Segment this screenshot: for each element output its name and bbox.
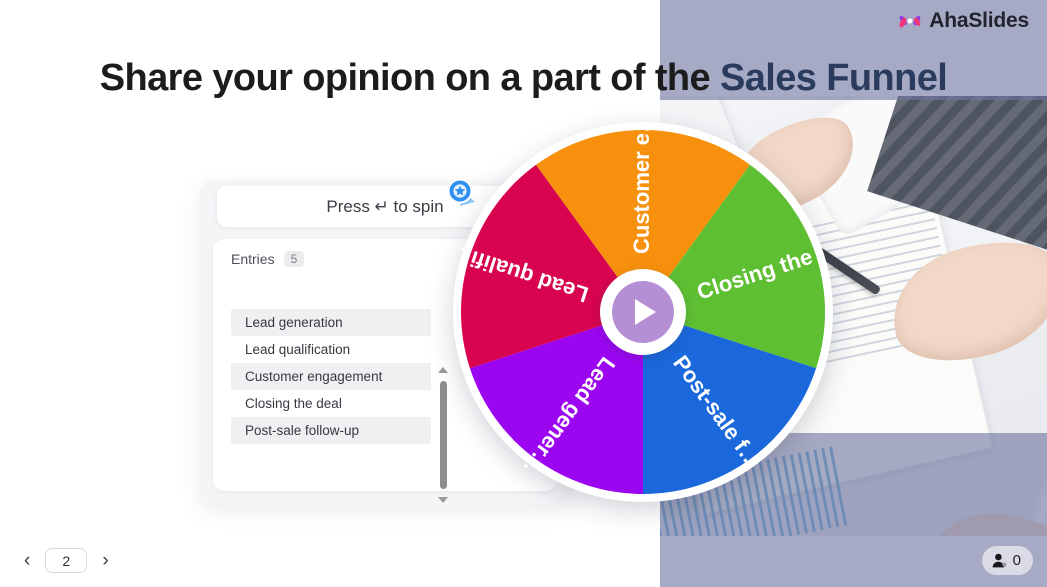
spinner-wheel[interactable]: Lead gener…Lead qualifi…Customer e…Closi… [453, 122, 833, 502]
list-item-label: Lead qualification [245, 342, 350, 357]
logo-text: AhaSlides [929, 9, 1029, 33]
entries-list: Lead generationLead qualificationCustome… [231, 309, 431, 444]
title-accent: Sales Funnel [720, 57, 947, 99]
entries-scrollbar[interactable] [436, 367, 450, 503]
wheel-hub[interactable] [600, 269, 686, 355]
chevron-right-icon[interactable]: › [98, 549, 112, 572]
play-spin-icon[interactable] [612, 281, 674, 343]
list-item-label: Post-sale follow-up [245, 423, 359, 438]
list-item[interactable]: Lead generation [231, 309, 431, 336]
participants-count: 0 [1013, 552, 1021, 569]
wheel-segment-label: Customer e… [629, 130, 654, 254]
person-icon [991, 552, 1008, 569]
scrollbar-thumb[interactable] [440, 381, 447, 489]
list-item[interactable]: Lead qualification [231, 336, 431, 363]
participants-counter[interactable]: 0 [982, 546, 1033, 575]
list-item[interactable]: Closing the deal [231, 390, 431, 417]
chevron-left-icon[interactable]: ‹ [20, 549, 34, 572]
list-item-label: Customer engagement [245, 369, 382, 384]
press-to-spin-label: Press ↵ to spin [326, 197, 443, 217]
star-pin-pointer-icon [444, 176, 484, 216]
scroll-down-arrow-icon[interactable] [438, 497, 448, 503]
page-title: Share your opinion on a part of the Sale… [0, 57, 1047, 100]
slide-pager[interactable]: ‹ 2 › [20, 548, 113, 573]
slide-stage: AhaSlides Share your opinion on a part o… [0, 0, 1047, 587]
list-item-label: Closing the deal [245, 396, 342, 411]
entries-label: Entries [231, 251, 275, 267]
entries-count-badge: 5 [284, 251, 305, 267]
list-item-label: Lead generation [245, 315, 343, 330]
list-item[interactable]: Customer engagement [231, 363, 431, 390]
ahaslides-logo: AhaSlides [897, 8, 1029, 34]
scroll-up-arrow-icon[interactable] [438, 367, 448, 373]
list-item[interactable]: Post-sale follow-up [231, 417, 431, 444]
title-lead: Share your opinion on a part of the [100, 57, 720, 99]
ahaslides-starburst-icon [897, 8, 923, 34]
page-number-input[interactable]: 2 [45, 548, 87, 573]
